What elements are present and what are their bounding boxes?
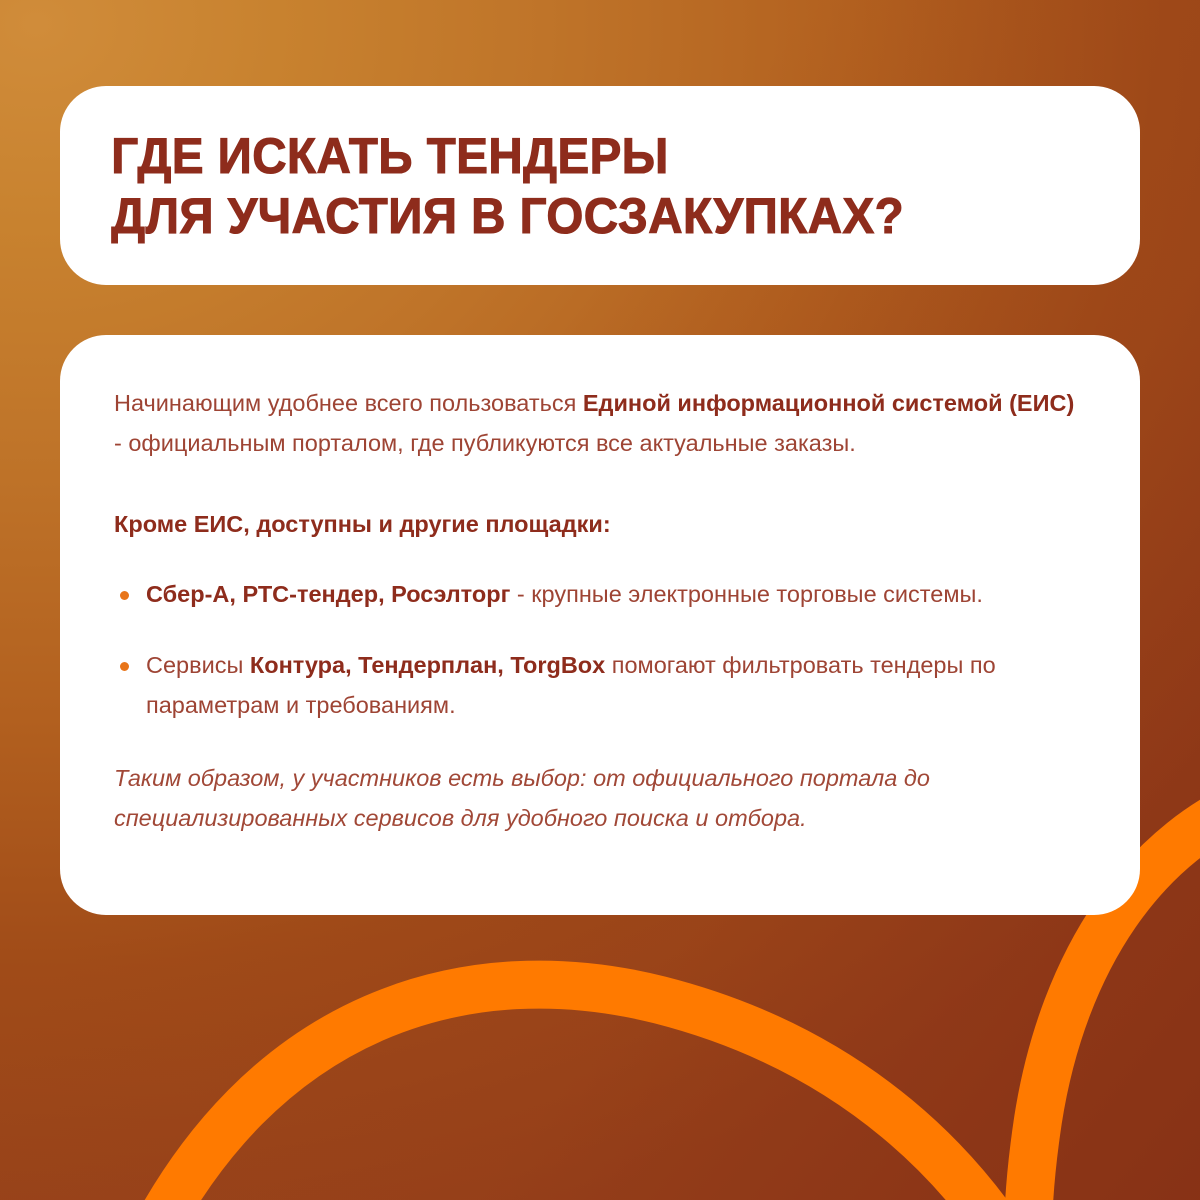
list-item: Сбер-А, РТС-тендер, Росэлторг - крупные … <box>114 574 1084 614</box>
page-title: ГДЕ ИСКАТЬ ТЕНДЕРЫ ДЛЯ УЧАСТИЯ В ГОСЗАКУ… <box>60 126 904 246</box>
lead-emphasis-eis: Единой информационной системой (ЕИС) <box>583 390 1074 416</box>
lead-text-part-1: Начинающим удобнее всего пользоваться <box>114 390 583 416</box>
poster-root: ГДЕ ИСКАТЬ ТЕНДЕРЫ ДЛЯ УЧАСТИЯ В ГОСЗАКУ… <box>0 0 1200 1200</box>
swoosh-arch-icon <box>140 985 1055 1200</box>
bullet-dot-icon <box>120 591 129 600</box>
platform-list: Сбер-А, РТС-тендер, Росэлторг - крупные … <box>114 574 1084 725</box>
title-card: ГДЕ ИСКАТЬ ТЕНДЕРЫ ДЛЯ УЧАСТИЯ В ГОСЗАКУ… <box>60 86 1140 285</box>
closing-paragraph: Таким образом, у участников есть выбор: … <box>114 759 1084 838</box>
body-card: Начинающим удобнее всего пользоваться Ед… <box>60 335 1140 915</box>
lead-paragraph: Начинающим удобнее всего пользоваться Ед… <box>114 383 1084 464</box>
body-content: Начинающим удобнее всего пользоваться Ед… <box>60 335 1140 838</box>
section-heading: Кроме ЕИС, доступны и другие площадки: <box>114 504 1084 544</box>
lead-text-part-2: - официальным порталом, где публикуются … <box>114 430 856 456</box>
bullet-1-emphasis: Сбер-А, РТС-тендер, Росэлторг <box>146 581 510 607</box>
bullet-2-lead: Сервисы <box>146 652 250 678</box>
bullet-1-text: - крупные электронные торговые системы. <box>510 581 983 607</box>
list-item: Сервисы Контура, Тендерплан, TorgBox пом… <box>114 645 1084 726</box>
bullet-2-emphasis: Контура, Тендерплан, TorgBox <box>250 652 605 678</box>
bullet-dot-icon <box>120 662 129 671</box>
